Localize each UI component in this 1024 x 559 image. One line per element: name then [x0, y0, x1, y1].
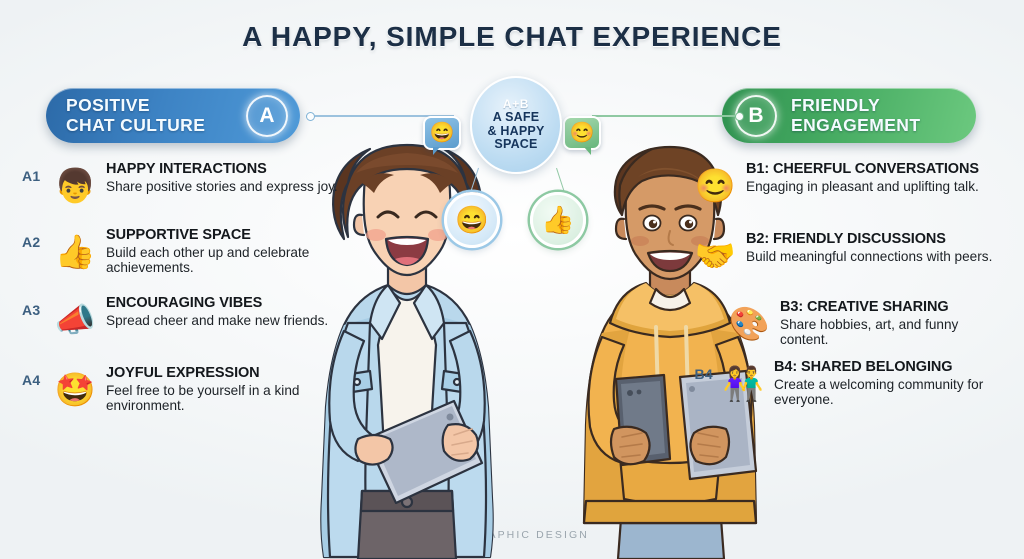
chat-bubble-left: 😄 — [423, 116, 461, 150]
list-item[interactable]: A4 🤩 JOYFUL EXPRESSION Feel free to be y… — [22, 364, 342, 414]
center-hub: A+B A SAFE & HAPPY SPACE — [470, 76, 562, 174]
section-header-a-line2: CHAT CULTURE — [66, 116, 205, 136]
laughing-face-icon: 😄 — [430, 123, 455, 143]
item-body: B2: FRIENDLY DISCUSSIONS Build meaningfu… — [740, 230, 992, 264]
item-desc: Feel free to be yourself in a kind envir… — [106, 383, 342, 414]
item-code: A4 — [22, 364, 50, 388]
badge-a: A — [246, 95, 288, 137]
feature-list-b: 😊 B1: CHEERFUL CONVERSATIONS Engaging in… — [690, 160, 1010, 418]
artist-palette-icon: 🎨 — [724, 298, 774, 348]
item-desc: Build each other up and celebrate achiev… — [106, 245, 342, 276]
item-title: ENCOURAGING VIBES — [106, 296, 328, 312]
item-desc: Share positive stories and express joy. — [106, 179, 338, 194]
connector-node-left — [306, 112, 315, 121]
list-item[interactable]: A1 👦 HAPPY INTERACTIONS Share positive s… — [22, 160, 342, 210]
item-body: ENCOURAGING VIBES Spread cheer and make … — [100, 294, 328, 328]
item-title: B1: CHEERFUL CONVERSATIONS — [746, 162, 979, 178]
feature-list-a: A1 👦 HAPPY INTERACTIONS Share positive s… — [22, 160, 342, 425]
smiling-face-icon: 😊 — [570, 123, 595, 143]
list-item[interactable]: B4 👫 B4: SHARED BELONGING Create a welco… — [690, 358, 1010, 408]
infographic-poster: A HAPPY, SIMPLE CHAT EXPERIENCE POSITIVE… — [0, 0, 1024, 559]
item-body: JOYFUL EXPRESSION Feel free to be yourse… — [100, 364, 342, 413]
item-body: SUPPORTIVE SPACE Build each other up and… — [100, 226, 342, 275]
hub-label-line1: A SAFE — [488, 111, 545, 125]
item-title: B4: SHARED BELONGING — [774, 360, 1010, 376]
laughing-face-icon: 😄 — [455, 207, 489, 234]
hub-code: A+B — [503, 98, 529, 110]
hub-node-laughing-face: 😄 — [444, 192, 500, 248]
page-title: A HAPPY, SIMPLE CHAT EXPERIENCE — [0, 21, 1024, 53]
section-header-b[interactable]: B FRIENDLY ENGAGEMENT — [722, 88, 976, 143]
item-desc: Build meaningful connections with peers. — [746, 249, 992, 264]
list-item[interactable]: 😊 B1: CHEERFUL CONVERSATIONS Engaging in… — [690, 160, 1010, 210]
section-header-b-text: FRIENDLY ENGAGEMENT — [791, 96, 920, 135]
connector-line-right — [592, 115, 735, 117]
item-desc: Engaging in pleasant and uplifting talk. — [746, 179, 979, 194]
item-code: A3 — [22, 294, 50, 318]
megaphone-music-icon: 📣 — [50, 294, 100, 344]
hub-label: A SAFE & HAPPY SPACE — [488, 111, 545, 152]
item-title: B2: FRIENDLY DISCUSSIONS — [746, 232, 992, 248]
chat-bubble-right: 😊 — [563, 116, 601, 150]
item-title: SUPPORTIVE SPACE — [106, 228, 342, 244]
item-desc: Create a welcoming community for everyon… — [774, 377, 1010, 408]
section-header-a-line1: POSITIVE — [66, 96, 205, 116]
list-item[interactable]: 🤝 B2: FRIENDLY DISCUSSIONS Build meaning… — [690, 230, 1010, 280]
list-item[interactable]: A3 📣 ENCOURAGING VIBES Spread cheer and … — [22, 294, 342, 344]
item-title: HAPPY INTERACTIONS — [106, 162, 338, 178]
item-code: A1 — [22, 160, 50, 184]
item-code: B4 — [690, 358, 718, 382]
thumbs-up-heart-icon: 👍 — [50, 226, 100, 276]
thumbs-up-icon: 👍 — [541, 207, 575, 234]
section-header-b-line2: ENGAGEMENT — [791, 116, 920, 136]
star-struck-face-icon: 🤩 — [50, 364, 100, 414]
item-desc: Share hobbies, art, and funny content. — [780, 317, 1010, 348]
hub-label-line2: & HAPPY — [488, 125, 545, 139]
item-title: JOYFUL EXPRESSION — [106, 366, 342, 382]
item-body: B3: CREATIVE SHARING Share hobbies, art,… — [774, 298, 1010, 347]
connector-node-right — [735, 112, 744, 121]
smiling-avatar-icon: 👦 — [50, 160, 100, 210]
section-header-a[interactable]: POSITIVE CHAT CULTURE A — [46, 88, 300, 143]
item-code: A2 — [22, 226, 50, 250]
list-item[interactable]: A2 👍 SUPPORTIVE SPACE Build each other u… — [22, 226, 342, 276]
section-header-a-text: POSITIVE CHAT CULTURE — [66, 96, 205, 135]
item-body: HAPPY INTERACTIONS Share positive storie… — [100, 160, 338, 194]
group-of-people-icon: 👫 — [718, 358, 768, 408]
item-body: B1: CHEERFUL CONVERSATIONS Engaging in p… — [740, 160, 979, 194]
list-item[interactable]: 🎨 B3: CREATIVE SHARING Share hobbies, ar… — [724, 298, 1010, 348]
item-body: B4: SHARED BELONGING Create a welcoming … — [768, 358, 1010, 407]
item-desc: Spread cheer and make new friends. — [106, 313, 328, 328]
connector-right — [592, 112, 744, 120]
hub-node-thumbs-up: 👍 — [530, 192, 586, 248]
handshake-heart-icon: 🤝 — [690, 230, 740, 280]
hub-label-line3: SPACE — [488, 138, 545, 152]
section-header-b-line1: FRIENDLY — [791, 96, 920, 116]
smiling-chat-bubble-icon: 😊 — [690, 160, 740, 210]
item-title: B3: CREATIVE SHARING — [780, 300, 1010, 316]
